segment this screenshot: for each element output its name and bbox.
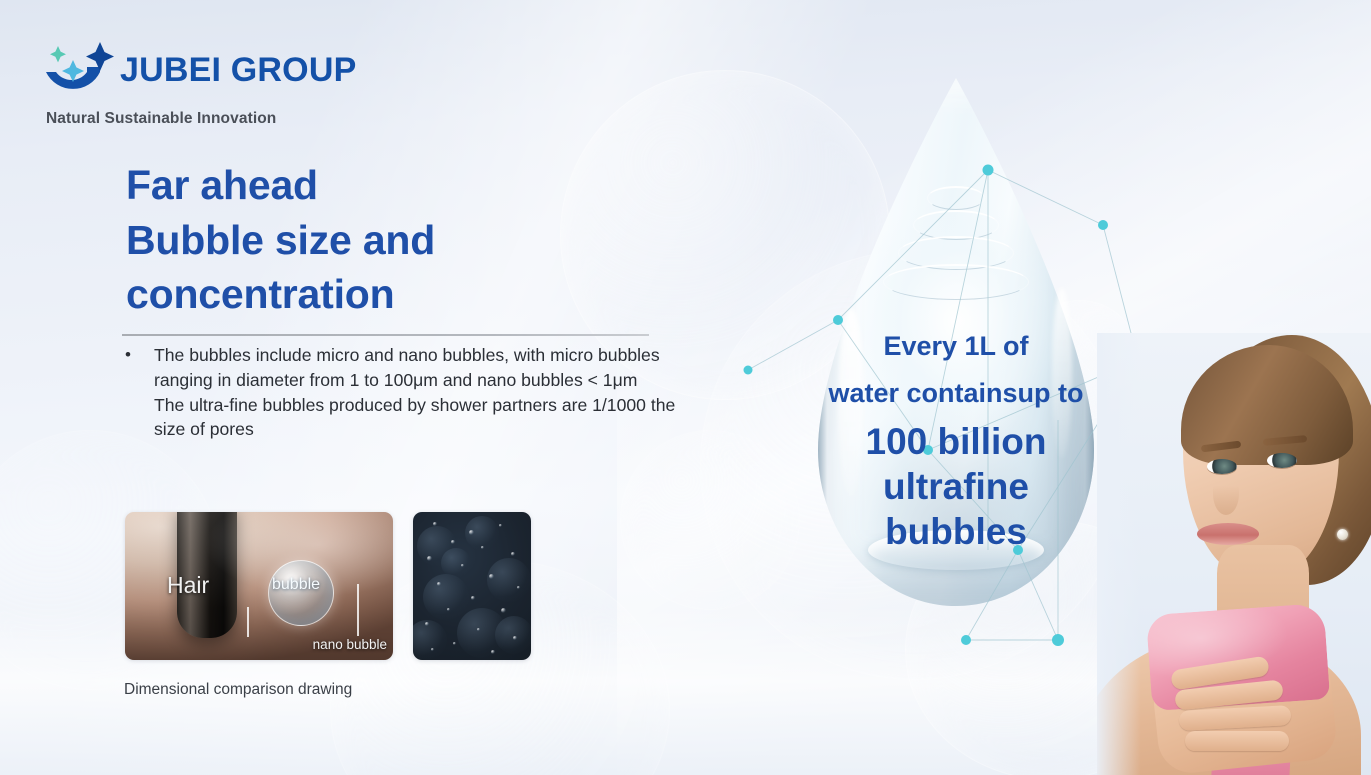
droplet-line-4: ultrafine [795, 464, 1117, 509]
brand-logo-block: JUBEI GROUP Natural Sustainable Innovati… [40, 38, 380, 128]
hair-label: Hair [167, 572, 209, 599]
nano-bubble-dots [413, 512, 531, 660]
headline-line-3: concentration [126, 267, 686, 322]
slide-canvas: JUBEI GROUP Natural Sustainable Innovati… [0, 0, 1371, 775]
droplet-line-1: Every 1L of [795, 326, 1117, 368]
droplet-line-5: bubbles [795, 509, 1117, 554]
headline-line-2: Bubble size and [126, 213, 686, 268]
bullet-row: • The bubbles include micro and nano bub… [122, 343, 682, 442]
body-text-block: • The bubbles include micro and nano bub… [122, 343, 682, 442]
bubble-label: bubble [272, 576, 320, 594]
body-paragraph-1: The bubbles include micro and nano bubbl… [154, 343, 682, 393]
woman-with-pink-towel-photo [1097, 333, 1371, 775]
droplet-line-2: water containsup to [795, 368, 1117, 419]
figure-caption: Dimensional comparison drawing [124, 681, 352, 699]
crescent-sparkle-logo-icon [40, 40, 114, 100]
photo-edge-fade [1097, 333, 1371, 775]
section-divider [122, 334, 649, 336]
body-paragraph-2: The ultra-fine bubbles produced by showe… [154, 393, 682, 443]
droplet-line-3: 100 billion [795, 419, 1117, 464]
droplet-ripple-ring [927, 186, 985, 210]
brand-tagline: Natural Sustainable Innovation [46, 110, 380, 128]
dimensional-comparison-photo: Hair bubble nano bubble [125, 512, 393, 660]
nano-bubble-microscopy-photo [413, 512, 531, 660]
logo-row: JUBEI GROUP [40, 38, 380, 102]
brand-name: JUBEI GROUP [120, 53, 356, 87]
background-bubble [620, 430, 800, 610]
bullet-marker: • [122, 343, 154, 367]
bullet-content: The bubbles include micro and nano bubbl… [154, 343, 682, 442]
measure-tick [247, 607, 249, 637]
droplet-caption-block: Every 1L of water containsup to 100 bill… [795, 326, 1117, 555]
headline-line-1: Far ahead [126, 158, 686, 213]
page-title: Far ahead Bubble size and concentration [126, 158, 686, 322]
nano-bubble-label: nano bubble [313, 637, 387, 652]
measure-tick [357, 584, 359, 636]
droplet-ripple-ring [883, 264, 1029, 300]
